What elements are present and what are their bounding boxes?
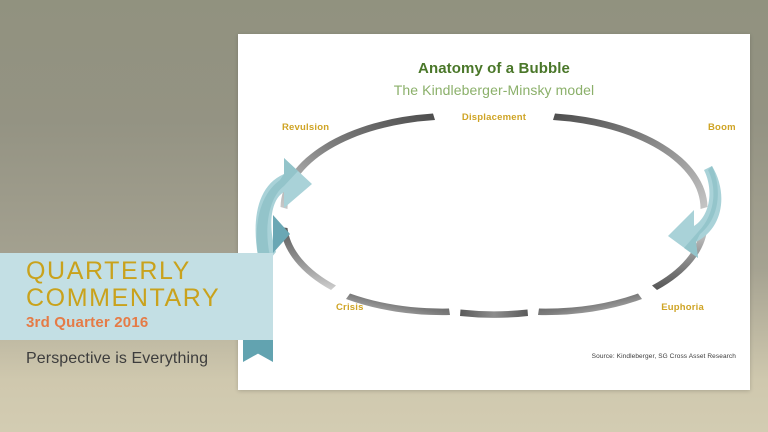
ring-segment-euphoria-to-bottom [538, 294, 642, 316]
tagline: Perspective is Everything [26, 350, 208, 368]
stage-label-displacement: Displacement [462, 112, 527, 123]
stage-label-revulsion: Revulsion [282, 122, 329, 133]
chart-source-note: Source: Kindleberger, SG Cross Asset Res… [592, 353, 736, 360]
ring-segment-bottom [460, 310, 528, 318]
banner-fold-top [273, 215, 290, 253]
banner-title-line1: QUARTERLY [26, 259, 191, 284]
outflow-arrow-icon [666, 162, 728, 264]
stage-label-crisis: Crisis [336, 302, 364, 313]
banner-title-line2: COMMENTARY [26, 286, 220, 311]
stage-label-boom: Boom [708, 122, 736, 133]
stage-label-euphoria: Euphoria [661, 302, 704, 313]
banner-subtitle: 3rd Quarter 2016 [26, 314, 148, 331]
